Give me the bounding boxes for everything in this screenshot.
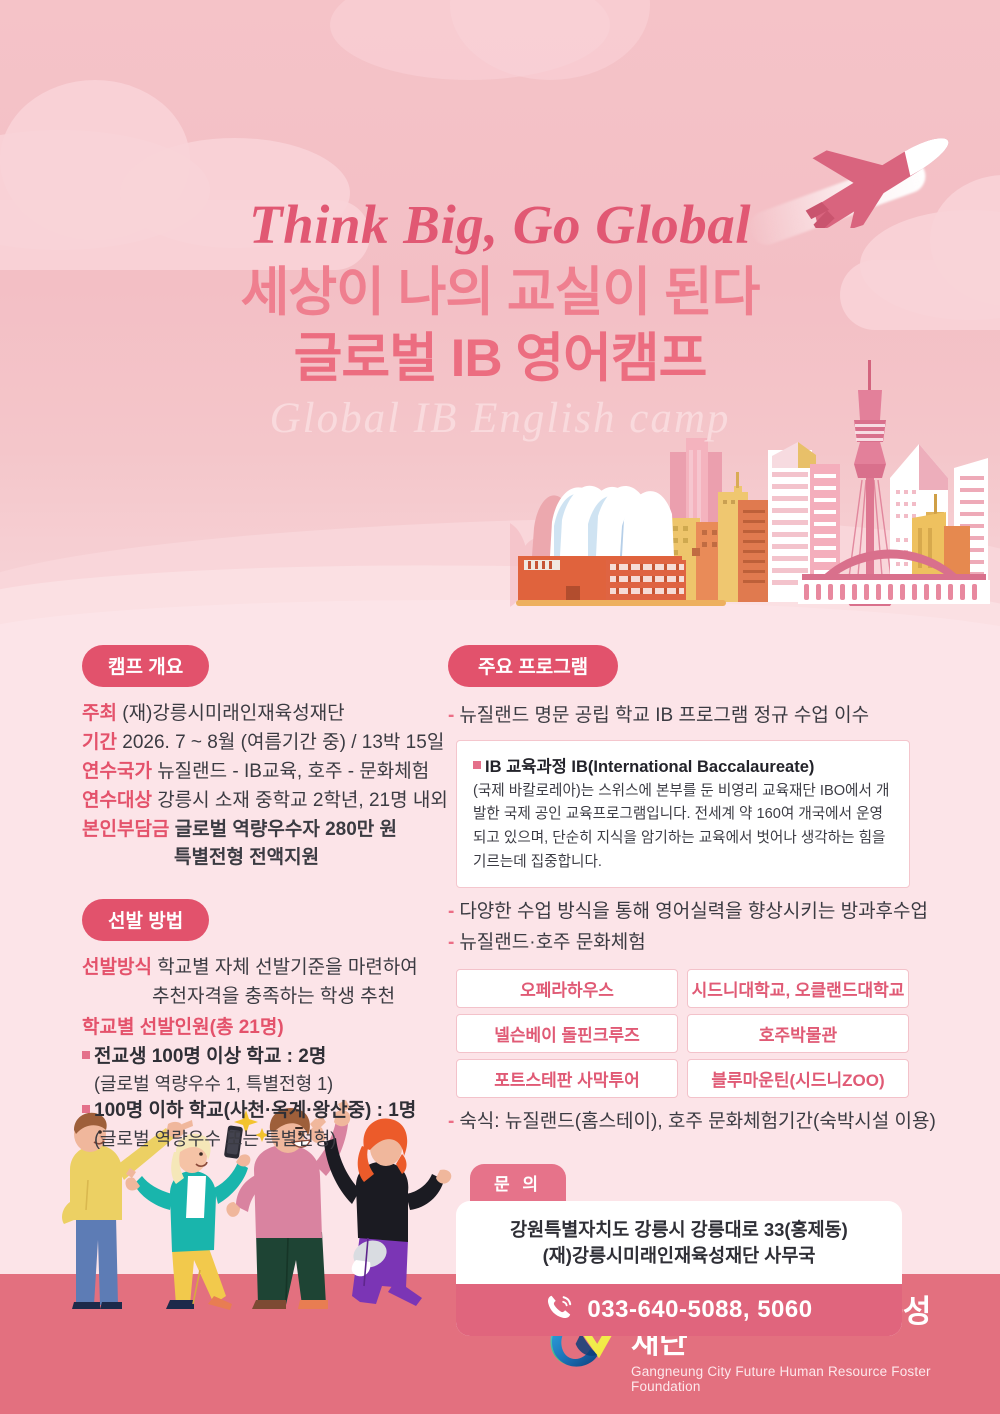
overview-extra-line: 특별전형 전액지원: [82, 844, 430, 873]
overview-value: 강릉시 소재 중학교 2학년, 21명 내외: [157, 790, 448, 811]
activity-cell: 넬슨베이 돌핀크루즈: [456, 1014, 678, 1053]
activity-cell: 오페라하우스: [456, 969, 678, 1008]
overview-value: 뉴질랜드 - IB교육, 호주 - 문화체험: [157, 761, 429, 782]
program-bullet-3: -뉴질랜드·호주 문화체험: [448, 928, 910, 959]
contact-card: 문 의 강원특별자치도 강릉시 강릉대로 33(홍제동) (재)강릉시미래인재육…: [456, 1156, 902, 1337]
overview-label: 기간: [82, 732, 117, 753]
square-bullet-icon: [82, 1051, 90, 1059]
quota-heading-row: 학교별 선발인원(총 21명): [82, 1014, 430, 1043]
overview-value: 글로벌 역량우수자 280만 원: [175, 819, 397, 840]
selection-method-row: 선발방식 학교별 자체 선발기준을 마련하여: [82, 954, 430, 983]
selection-heading: 선발 방법: [82, 899, 209, 941]
overview-row: 연수대상 강릉시 소재 중학교 2학년, 21명 내외: [82, 787, 430, 816]
dash-marker-icon: -: [448, 1111, 454, 1132]
square-bullet-icon: [82, 1105, 90, 1113]
dash-marker-icon: -: [448, 705, 454, 726]
contact-phone-bar[interactable]: 033-640-5088, 5060: [456, 1284, 902, 1336]
quota-item-sub: (글로벌 역량우수 또는 특별전형): [82, 1126, 430, 1152]
program-bullet-1: -뉴질랜드 명문 공립 학교 IB 프로그램 정규 수업 이수: [448, 701, 910, 732]
content-area: 캠프 개요 주최 (재)강릉시미래인재육성재단 기간 2026. 7 ~ 8월 …: [0, 645, 1000, 1145]
overview-list: 주최 (재)강릉시미래인재육성재단 기간 2026. 7 ~ 8월 (여름기간 …: [82, 700, 430, 873]
square-bullet-icon: [473, 761, 481, 769]
activities-grid: 오페라하우스 시드니대학교, 오클랜드대학교 넬슨베이 돌핀크루즈 호주박물관 …: [456, 969, 910, 1098]
foundation-name-en: Gangneung City Future Human Resource Fos…: [631, 1364, 945, 1394]
poster-root: Think Big, Go Global 세상이 나의 교실이 된다 글로벌 I…: [0, 0, 1000, 1414]
overview-row: 주최 (재)강릉시미래인재육성재단: [82, 700, 430, 729]
quota-item-sub: (글로벌 역량우수 1, 특별전형 1): [82, 1071, 430, 1097]
overview-row: 기간 2026. 7 ~ 8월 (여름기간 중) / 13박 15일: [82, 729, 430, 758]
selection-body: 선발방식 학교별 자체 선발기준을 마련하여 추천자격을 충족하는 학생 추천 …: [82, 954, 430, 1152]
program-heading: 주요 프로그램: [448, 645, 618, 687]
overview-value: (재)강릉시미래인재육성재단: [122, 703, 344, 724]
selection-method-label: 선발방식: [82, 957, 152, 978]
activity-cell: 블루마운틴(시드니ZOO): [687, 1059, 909, 1098]
ib-box-body: (국제 바칼로레아)는 스위스에 본부를 둔 비영리 교육재단 IBO에서 개발…: [473, 780, 893, 875]
dash-marker-icon: -: [448, 901, 454, 922]
overview-label: 연수국가: [82, 761, 152, 782]
contact-phone-number: 033-640-5088, 5060: [587, 1296, 812, 1324]
activity-cell: 시드니대학교, 오클랜드대학교: [687, 969, 909, 1008]
overview-label: 주최: [82, 703, 117, 724]
selection-method-line1: 학교별 자체 선발기준을 마련하여: [157, 957, 418, 978]
dash-marker-icon: -: [448, 932, 454, 953]
left-column: 캠프 개요 주최 (재)강릉시미래인재육성재단 기간 2026. 7 ~ 8월 …: [82, 645, 430, 1152]
hero-subtitle-english: Global IB English camp: [0, 394, 1000, 443]
contact-address-line2: (재)강릉시미래인재육성재단 사무국: [466, 1243, 892, 1270]
activity-cell: 호주박물관: [687, 1014, 909, 1053]
hero-title-korean-1: 세상이 나의 교실이 된다: [0, 260, 1000, 326]
contact-address-line1: 강원특별자치도 강릉시 강릉대로 33(홍제동): [466, 1217, 892, 1244]
hero-titles: Think Big, Go Global 세상이 나의 교실이 된다 글로벌 I…: [0, 196, 1000, 443]
ib-info-box: IB 교육과정 IB(International Baccalaureate) …: [456, 740, 910, 889]
overview-value: 2026. 7 ~ 8월 (여름기간 중) / 13박 15일: [122, 732, 444, 753]
contact-address: 강원특별자치도 강릉시 강릉대로 33(홍제동) (재)강릉시미래인재육성재단 …: [456, 1201, 902, 1285]
quota-item: 전교생 100명 이상 학교 : 2명: [82, 1043, 430, 1072]
program-bullet-4: -숙식: 뉴질랜드(홈스테이), 호주 문화체험기간(숙박시설 이용): [448, 1107, 910, 1138]
overview-label: 연수대상: [82, 790, 152, 811]
program-bullet-2: -다양한 수업 방식을 통해 영어실력을 향상시키는 방과후수업: [448, 897, 910, 928]
quota-heading: 학교별 선발인원(총 21명): [82, 1017, 284, 1038]
contact-body: 강원특별자치도 강릉시 강릉대로 33(홍제동) (재)강릉시미래인재육성재단 …: [456, 1201, 902, 1337]
hero-section: Think Big, Go Global 세상이 나의 교실이 된다 글로벌 I…: [0, 0, 1000, 640]
overview-heading: 캠프 개요: [82, 645, 209, 687]
hero-title-korean-2: 글로벌 IB 영어캠프: [0, 326, 1000, 392]
overview-row: 연수국가 뉴질랜드 - IB교육, 호주 - 문화체험: [82, 758, 430, 787]
activity-cell: 포트스테판 사막투어: [456, 1059, 678, 1098]
right-column: 주요 프로그램 -뉴질랜드 명문 공립 학교 IB 프로그램 정규 수업 이수 …: [448, 645, 910, 1336]
selection-method-line2-row: 추천자격을 충족하는 학생 추천: [82, 983, 430, 1012]
overview-label: 본인부담금: [82, 819, 169, 840]
hero-title-english: Think Big, Go Global: [0, 196, 1000, 254]
phone-icon: [545, 1293, 573, 1328]
quota-item: 100명 이하 학교(사천·옥계·왕산중) : 1명: [82, 1097, 430, 1126]
ib-box-title: IB 교육과정 IB(International Baccalaureate): [473, 753, 893, 777]
overview-row: 본인부담금 글로벌 역량우수자 280만 원: [82, 816, 430, 845]
